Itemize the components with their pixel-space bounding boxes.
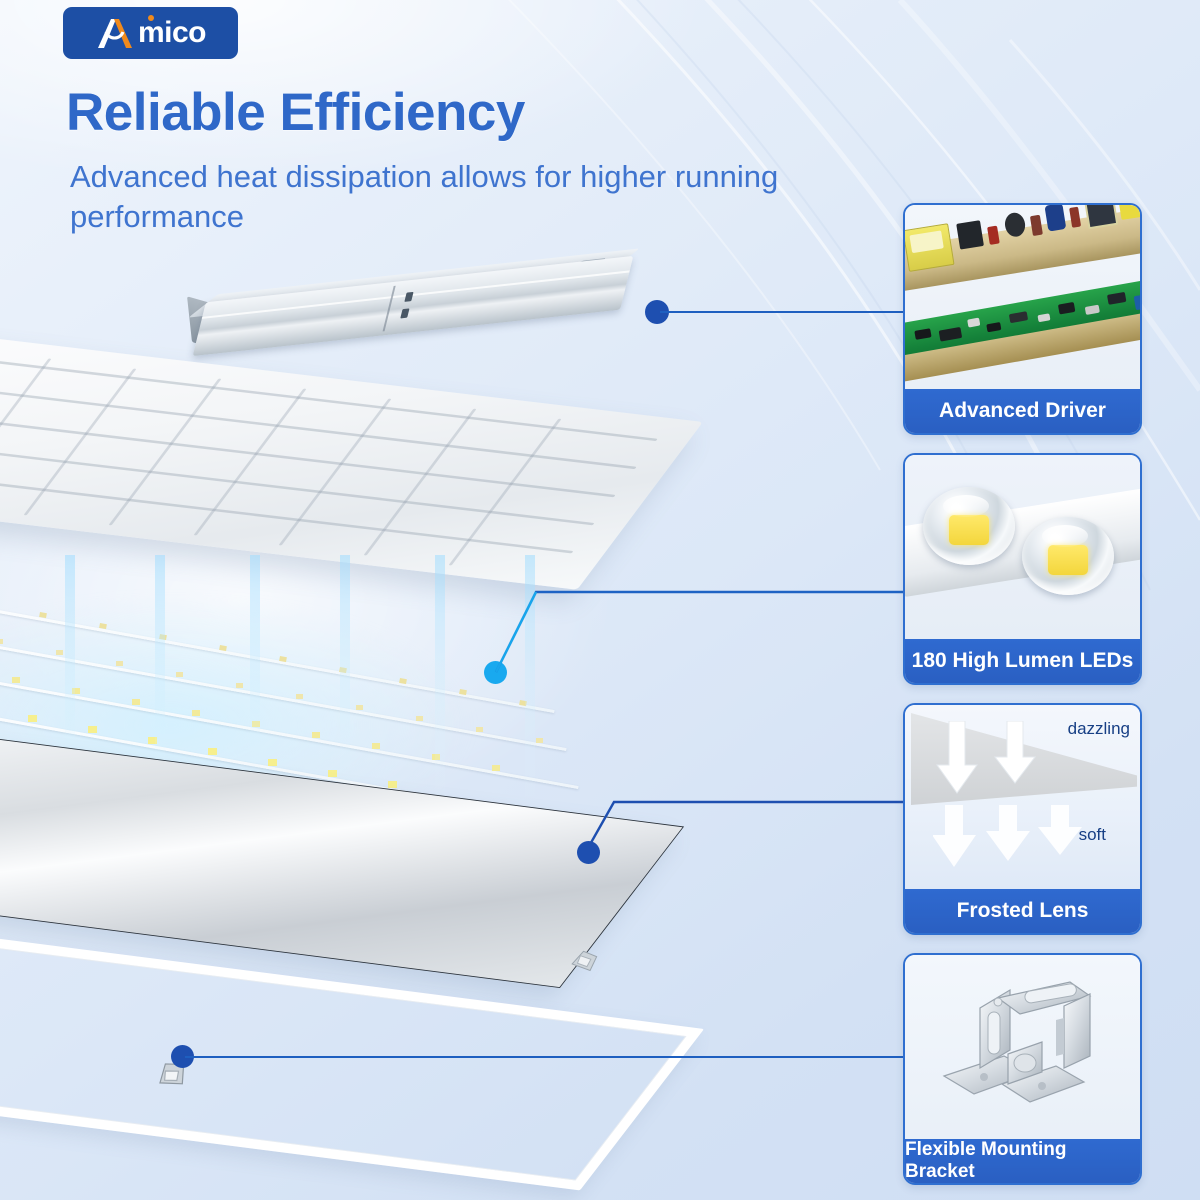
logo-text: mico [138, 16, 206, 49]
feature-card-mounting-bracket[interactable]: Flexible Mounting Bracket [903, 953, 1142, 1185]
brand-logo: mico [63, 7, 238, 59]
feature-card-advanced-driver[interactable]: Advanced Driver [903, 203, 1142, 435]
lens-card-label: Frosted Lens [905, 889, 1140, 933]
driver-card-label: Advanced Driver [905, 389, 1140, 433]
logo-wordmark: mico [138, 18, 206, 48]
page-title: Reliable Efficiency [66, 82, 525, 143]
driver-image [905, 205, 1140, 389]
label-dazzling: dazzling [1068, 719, 1130, 739]
led-dome-left [923, 487, 1015, 565]
logo-a-mark [95, 17, 135, 49]
connector-line-bracket [185, 1056, 910, 1058]
connector-line-lens [570, 790, 920, 860]
led-dome-right [1022, 517, 1114, 595]
label-soft: soft [1079, 825, 1106, 845]
bracket-card-label: Flexible Mounting Bracket [905, 1139, 1140, 1183]
bracket-image [905, 955, 1140, 1139]
connector-line-driver [660, 311, 910, 313]
arrows-dazzling [935, 721, 1055, 797]
lens-diffusion-image: dazzling soft [905, 705, 1140, 889]
bracket-illustration [938, 972, 1108, 1122]
driver-housing-bar [193, 256, 634, 356]
leds-image [905, 455, 1140, 639]
infographic-canvas: mico Reliable Efficiency Advanced heat d… [0, 0, 1200, 1200]
mounting-bracket-small-right [564, 941, 605, 982]
feature-card-high-lumen-leds[interactable]: 180 High Lumen LEDs [903, 453, 1142, 685]
feature-card-frosted-lens[interactable]: dazzling soft Frosted Lens [903, 703, 1142, 935]
page-subtitle: Advanced heat dissipation allows for hig… [70, 157, 860, 236]
arrows-soft [933, 805, 1103, 875]
leds-card-label: 180 High Lumen LEDs [905, 639, 1140, 683]
product-exploded-view [0, 255, 900, 1200]
connector-line-leds [480, 570, 920, 690]
